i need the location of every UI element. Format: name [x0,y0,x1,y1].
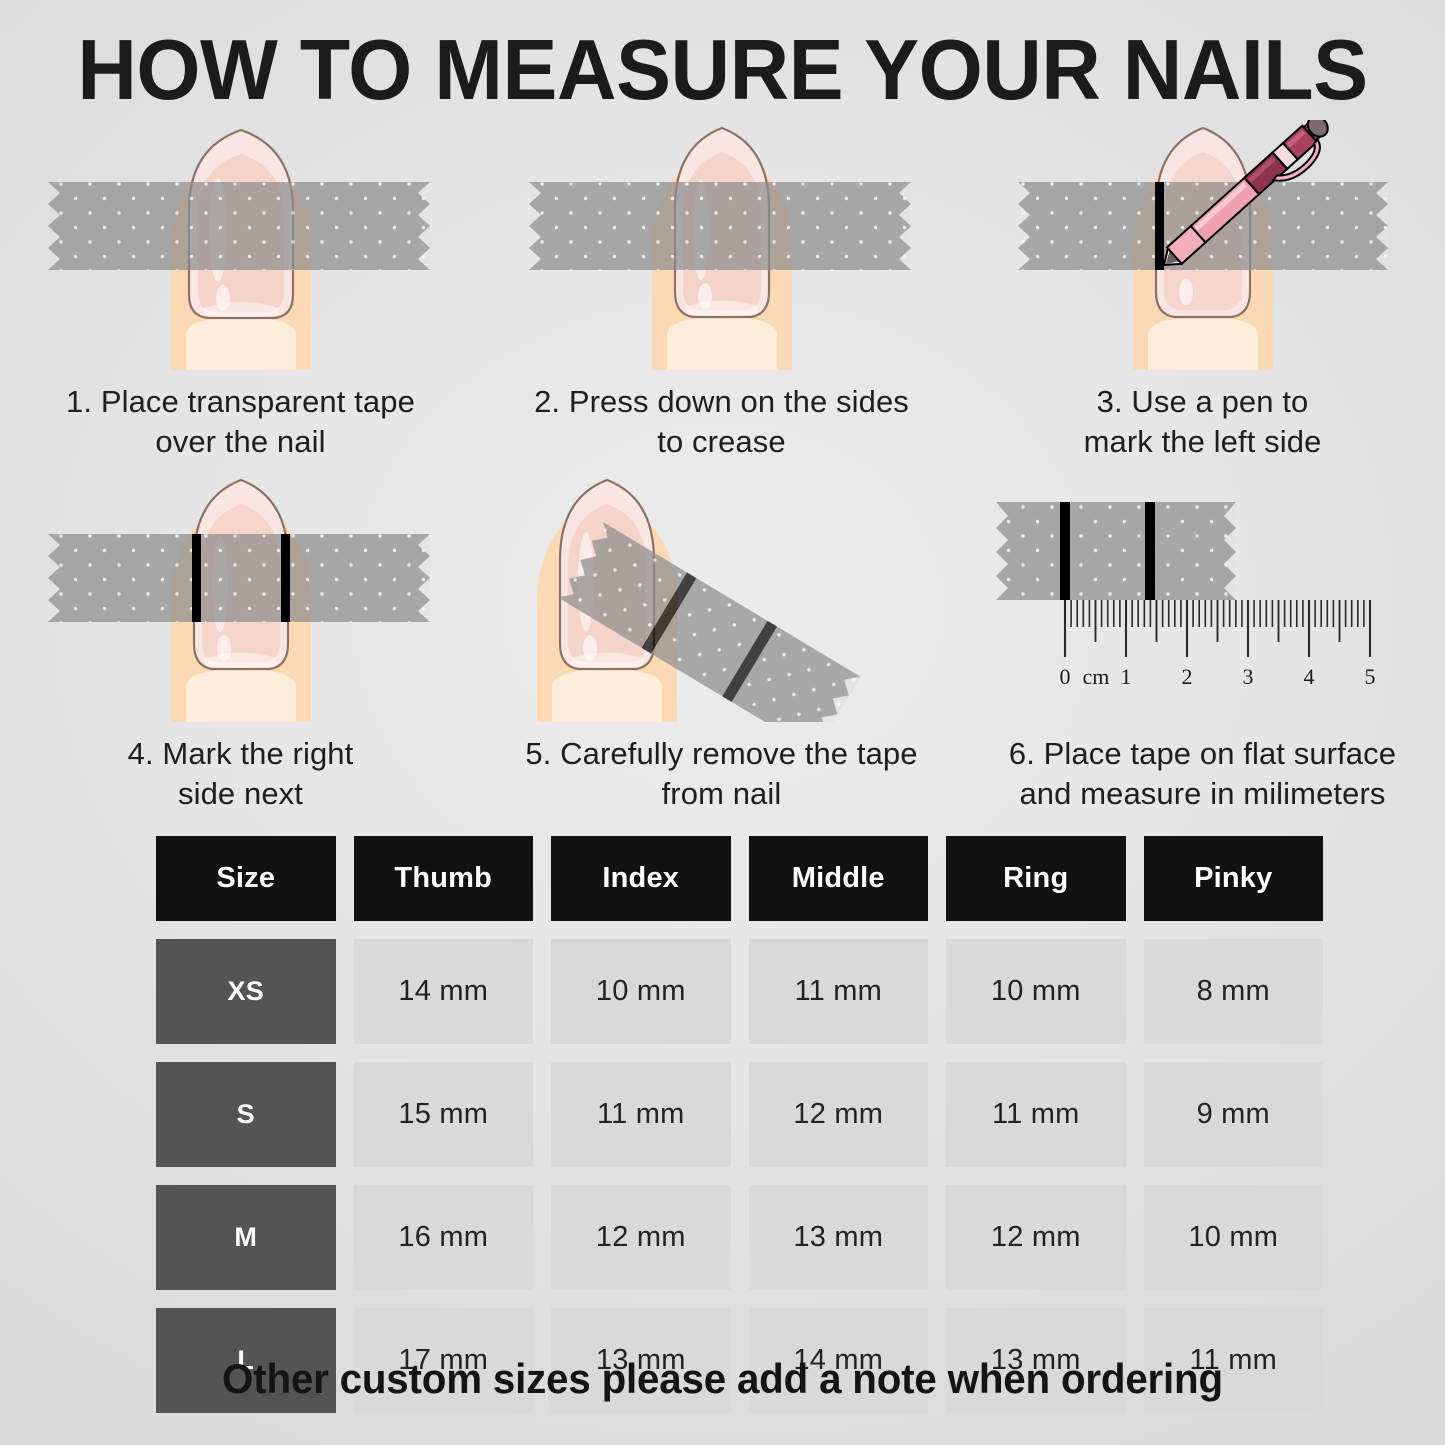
step-4-illustration [26,472,456,722]
header-pinky: Pinky [1144,836,1324,921]
step-2-illustration [507,120,937,370]
tape-on-ruler-icon: 0 cm 1 2 3 4 5 [988,472,1418,722]
step-3: 3. Use a pen to mark the left side [962,120,1443,463]
tape-mark-left [1060,502,1070,600]
cell-xs-ring: 10 mm [946,939,1126,1044]
cell-xs-index: 10 mm [551,939,731,1044]
step-5: 5. Carefully remove the tape from nail [481,472,962,815]
table-header-row: Size Thumb Index Middle Ring Pinky [156,836,1323,921]
cell-s-index: 11 mm [551,1062,731,1167]
cell-s-thumb: 15 mm [354,1062,534,1167]
header-middle: Middle [749,836,929,921]
step-4: 4. Mark the right side next [0,472,481,815]
step-1: 1. Place transparent tape over the nail [0,120,481,463]
table-row: XS 14 mm 10 mm 11 mm 10 mm 8 mm [156,939,1323,1044]
size-chart-table: Size Thumb Index Middle Ring Pinky XS 14… [156,836,1323,1413]
step-3-caption: 3. Use a pen to mark the left side [1084,382,1322,463]
finger-with-tape-icon [26,120,456,370]
ruler-label-3: 3 [1242,664,1253,689]
steps-row-bottom: 4. Mark the right side next [0,472,1445,815]
infographic-page: HOW TO MEASURE YOUR NAILS [0,0,1445,1445]
ruler-label-5: 5 [1364,664,1375,689]
ruler-label-4: 4 [1303,664,1314,689]
cell-m-thumb: 16 mm [354,1185,534,1290]
pen-marking-tape-icon [988,120,1418,370]
ruler-label-1: 1 [1120,664,1131,689]
cell-xs-middle: 11 mm [749,939,929,1044]
cell-m-index: 12 mm [551,1185,731,1290]
table-row: M 16 mm 12 mm 13 mm 12 mm 10 mm [156,1185,1323,1290]
step-1-caption: 1. Place transparent tape over the nail [66,382,415,463]
ruler-label-0: 0 [1059,664,1070,689]
step-1-illustration [26,120,456,370]
size-label-m: M [156,1185,336,1290]
cell-m-pinky: 10 mm [1144,1185,1324,1290]
step-2-caption: 2. Press down on the sides to crease [534,382,909,463]
size-label-xs: XS [156,939,336,1044]
tape-peeling-icon [507,472,937,722]
pen-mark-right [281,534,290,622]
step-5-caption: 5. Carefully remove the tape from nail [525,734,917,815]
ruler-label-unit: cm [1082,664,1109,689]
steps-row-top: 1. Place transparent tape over the nail [0,120,1445,463]
tape-strip [996,502,1236,600]
cell-xs-thumb: 14 mm [354,939,534,1044]
finger-two-marks-icon [26,472,456,722]
header-ring: Ring [946,836,1126,921]
pen-mark-left [192,534,201,622]
step-6-caption: 6. Place tape on flat surface and measur… [1009,734,1396,815]
step-3-illustration [988,120,1418,370]
cell-m-ring: 12 mm [946,1185,1126,1290]
ruler-labels: 0 cm 1 2 3 4 5 [1059,664,1375,689]
table-row: S 15 mm 11 mm 12 mm 11 mm 9 mm [156,1062,1323,1167]
step-6-illustration: 0 cm 1 2 3 4 5 [988,472,1418,722]
finger-creased-tape-icon [507,120,937,370]
page-title: HOW TO MEASURE YOUR NAILS [22,22,1424,120]
cell-m-middle: 13 mm [749,1185,929,1290]
header-thumb: Thumb [354,836,534,921]
header-size: Size [156,836,336,921]
step-2: 2. Press down on the sides to crease [481,120,962,463]
tape-mark-right [1145,502,1155,600]
pen-mark-left [1155,182,1164,270]
size-label-s: S [156,1062,336,1167]
step-4-caption: 4. Mark the right side next [128,734,354,815]
footer-note: Other custom sizes please add a note whe… [29,1355,1416,1403]
ruler-label-2: 2 [1181,664,1192,689]
step-5-illustration [507,472,937,722]
cell-s-ring: 11 mm [946,1062,1126,1167]
step-6: 0 cm 1 2 3 4 5 6. Place tape on flat sur… [962,472,1443,815]
cell-s-middle: 12 mm [749,1062,929,1167]
cell-s-pinky: 9 mm [1144,1062,1324,1167]
cell-xs-pinky: 8 mm [1144,939,1324,1044]
header-index: Index [551,836,731,921]
ruler [1065,600,1370,657]
